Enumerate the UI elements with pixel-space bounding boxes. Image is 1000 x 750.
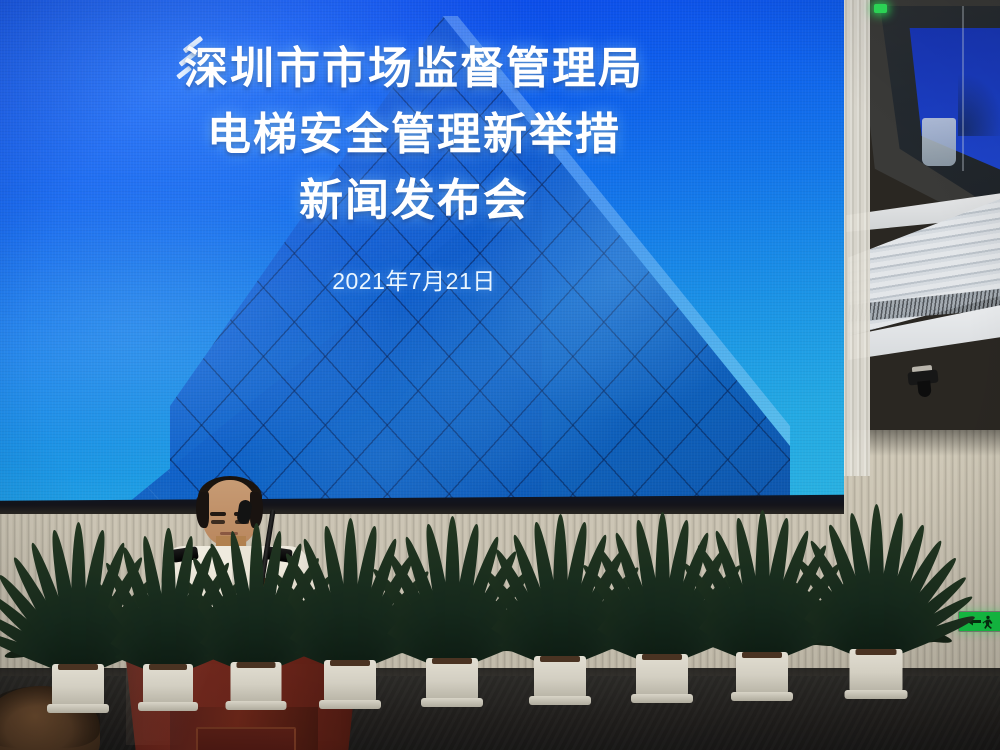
slide-date: 2021年7月21日: [332, 262, 496, 296]
speaker-eye-left: [211, 520, 225, 524]
window-mullion: [962, 6, 964, 171]
plant-pot: [534, 656, 586, 700]
slide-text-block: 深圳市市场监督管理局 电梯安全管理新举措 新闻发布会 2021年7月21日: [0, 0, 836, 504]
pot-soil: [432, 658, 472, 664]
pot-soil: [742, 652, 782, 658]
led-display-screen: 深圳市市场监督管理局 电梯安全管理新举措 新闻发布会 2021年7月21日: [0, 0, 844, 510]
slide-title-line-1: 深圳市市场监督管理局: [184, 36, 644, 102]
window-reflection-pot: [922, 118, 956, 166]
pot-soil: [540, 656, 580, 662]
pot-soil: [149, 664, 187, 670]
press-conference-photo: 深圳市市场监督管理局 电梯安全管理新举措 新闻发布会 2021年7月21日: [0, 0, 1000, 750]
plant-pot: [143, 664, 193, 706]
pot-soil: [856, 649, 896, 655]
plant-pot: [850, 649, 903, 694]
plant-pot: [231, 662, 282, 705]
speaker-brow-left: [210, 512, 226, 516]
pot-soil: [237, 662, 276, 668]
plant-pot: [52, 664, 104, 708]
plant-pot: [324, 660, 376, 704]
slide-title-line-2: 电梯安全管理新举措: [184, 102, 644, 168]
window-reflection-plant: [958, 66, 1000, 136]
plant-pot: [426, 658, 478, 702]
plant-pot: [736, 652, 788, 696]
pot-soil: [642, 654, 682, 660]
speaker-hair-left: [196, 492, 209, 528]
pot-soil: [58, 664, 98, 670]
slide-title: 深圳市市场监督管理局 电梯安全管理新举措 新闻发布会: [184, 36, 644, 234]
plant-leaf: [249, 523, 264, 670]
green-indicator-lamp: [874, 4, 887, 13]
pot-soil: [330, 660, 370, 666]
security-camera-lens: [917, 380, 932, 397]
slide-title-line-3: 新闻发布会: [184, 168, 644, 234]
plant-pot: [636, 654, 688, 698]
